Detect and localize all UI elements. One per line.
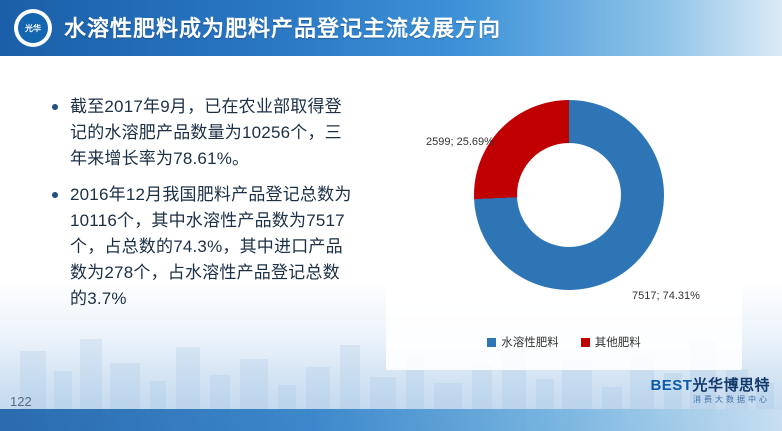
bullet-text: 截至2017年9月，已在农业部取得登记的水溶肥产品数量为10256个，三年来增长…: [70, 97, 342, 168]
data-label-water-soluble: 7517; 74.31%: [632, 290, 700, 302]
logo-ring-icon: 光华: [18, 13, 48, 43]
page-number: 122: [10, 394, 32, 409]
slide-header: 光华 水溶性肥料成为肥料产品登记主流发展方向: [0, 0, 782, 56]
bullet-dot-icon: [52, 104, 58, 110]
brand-prefix: BEST: [650, 377, 692, 394]
legend-label: 水溶性肥料: [501, 334, 559, 350]
legend-item-water-soluble: 水溶性肥料: [487, 334, 559, 350]
data-label-other: 2599; 25.69%: [426, 136, 494, 148]
legend-swatch-icon: [581, 338, 590, 347]
brand-logo: BEST光华博思特 消费大数据中心: [650, 378, 770, 405]
slide: 光华 水溶性肥料成为肥料产品登记主流发展方向 截至2017年9月，已在农业部取得…: [0, 0, 782, 431]
donut-chart: [474, 100, 664, 290]
list-item: 截至2017年9月，已在农业部取得登记的水溶肥产品数量为10256个，三年来增长…: [52, 94, 352, 172]
list-item: 2016年12月我国肥料产品登记总数为 10116个，其中水溶性产品数为7517…: [52, 182, 352, 312]
brand-subtitle: 消费大数据中心: [650, 396, 770, 405]
chart-panel: 2599; 25.69% 7517; 74.31% 水溶性肥料 其他肥料: [386, 84, 742, 370]
legend-item-other: 其他肥料: [581, 334, 641, 350]
bullet-dot-icon: [52, 192, 58, 198]
brand-title: 光华博思特: [692, 377, 770, 394]
donut-hole: [517, 143, 621, 247]
footer-strip: [0, 409, 782, 431]
chart-legend: 水溶性肥料 其他肥料: [386, 334, 742, 350]
bullet-text: 2016年12月我国肥料产品登记总数为 10116个，其中水溶性产品数为7517…: [70, 185, 352, 308]
organization-logo-icon: 光华: [14, 9, 52, 47]
brand-name: BEST光华博思特: [650, 378, 770, 395]
bullet-list: 截至2017年9月，已在农业部取得登记的水溶肥产品数量为10256个，三年来增长…: [52, 94, 352, 322]
page-title: 水溶性肥料成为肥料产品登记主流发展方向: [64, 11, 501, 43]
legend-swatch-icon: [487, 338, 496, 347]
legend-label: 其他肥料: [595, 334, 641, 350]
